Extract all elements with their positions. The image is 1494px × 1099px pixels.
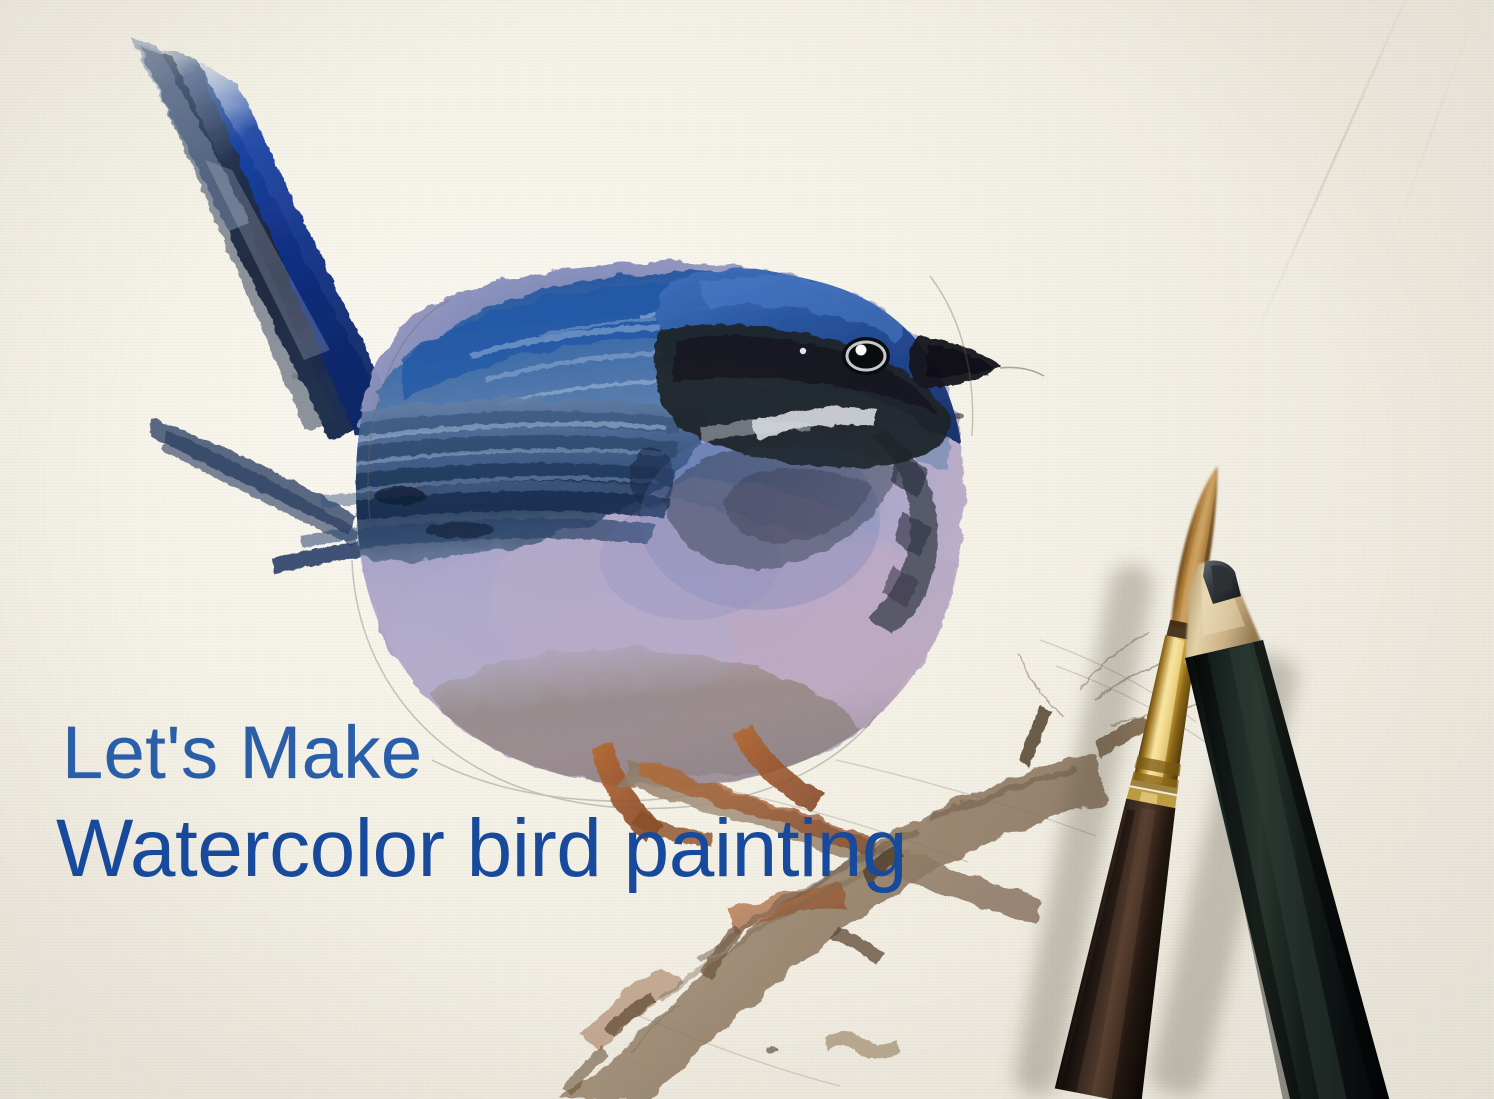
kicker-text: Let's Make: [62, 716, 907, 790]
title-overlay: Let's Make Watercolor bird painting: [56, 716, 907, 890]
pencil[interactable]: H QUALITY DRAWING PENCIL Kokuyo Cam: [1145, 560, 1465, 1099]
headline-text: Watercolor bird painting: [56, 808, 907, 890]
bird-beak: [909, 336, 1000, 388]
screenshot-canvas: H QUALITY DRAWING PENCIL Kokuyo Cam Let'…: [0, 0, 1494, 1099]
